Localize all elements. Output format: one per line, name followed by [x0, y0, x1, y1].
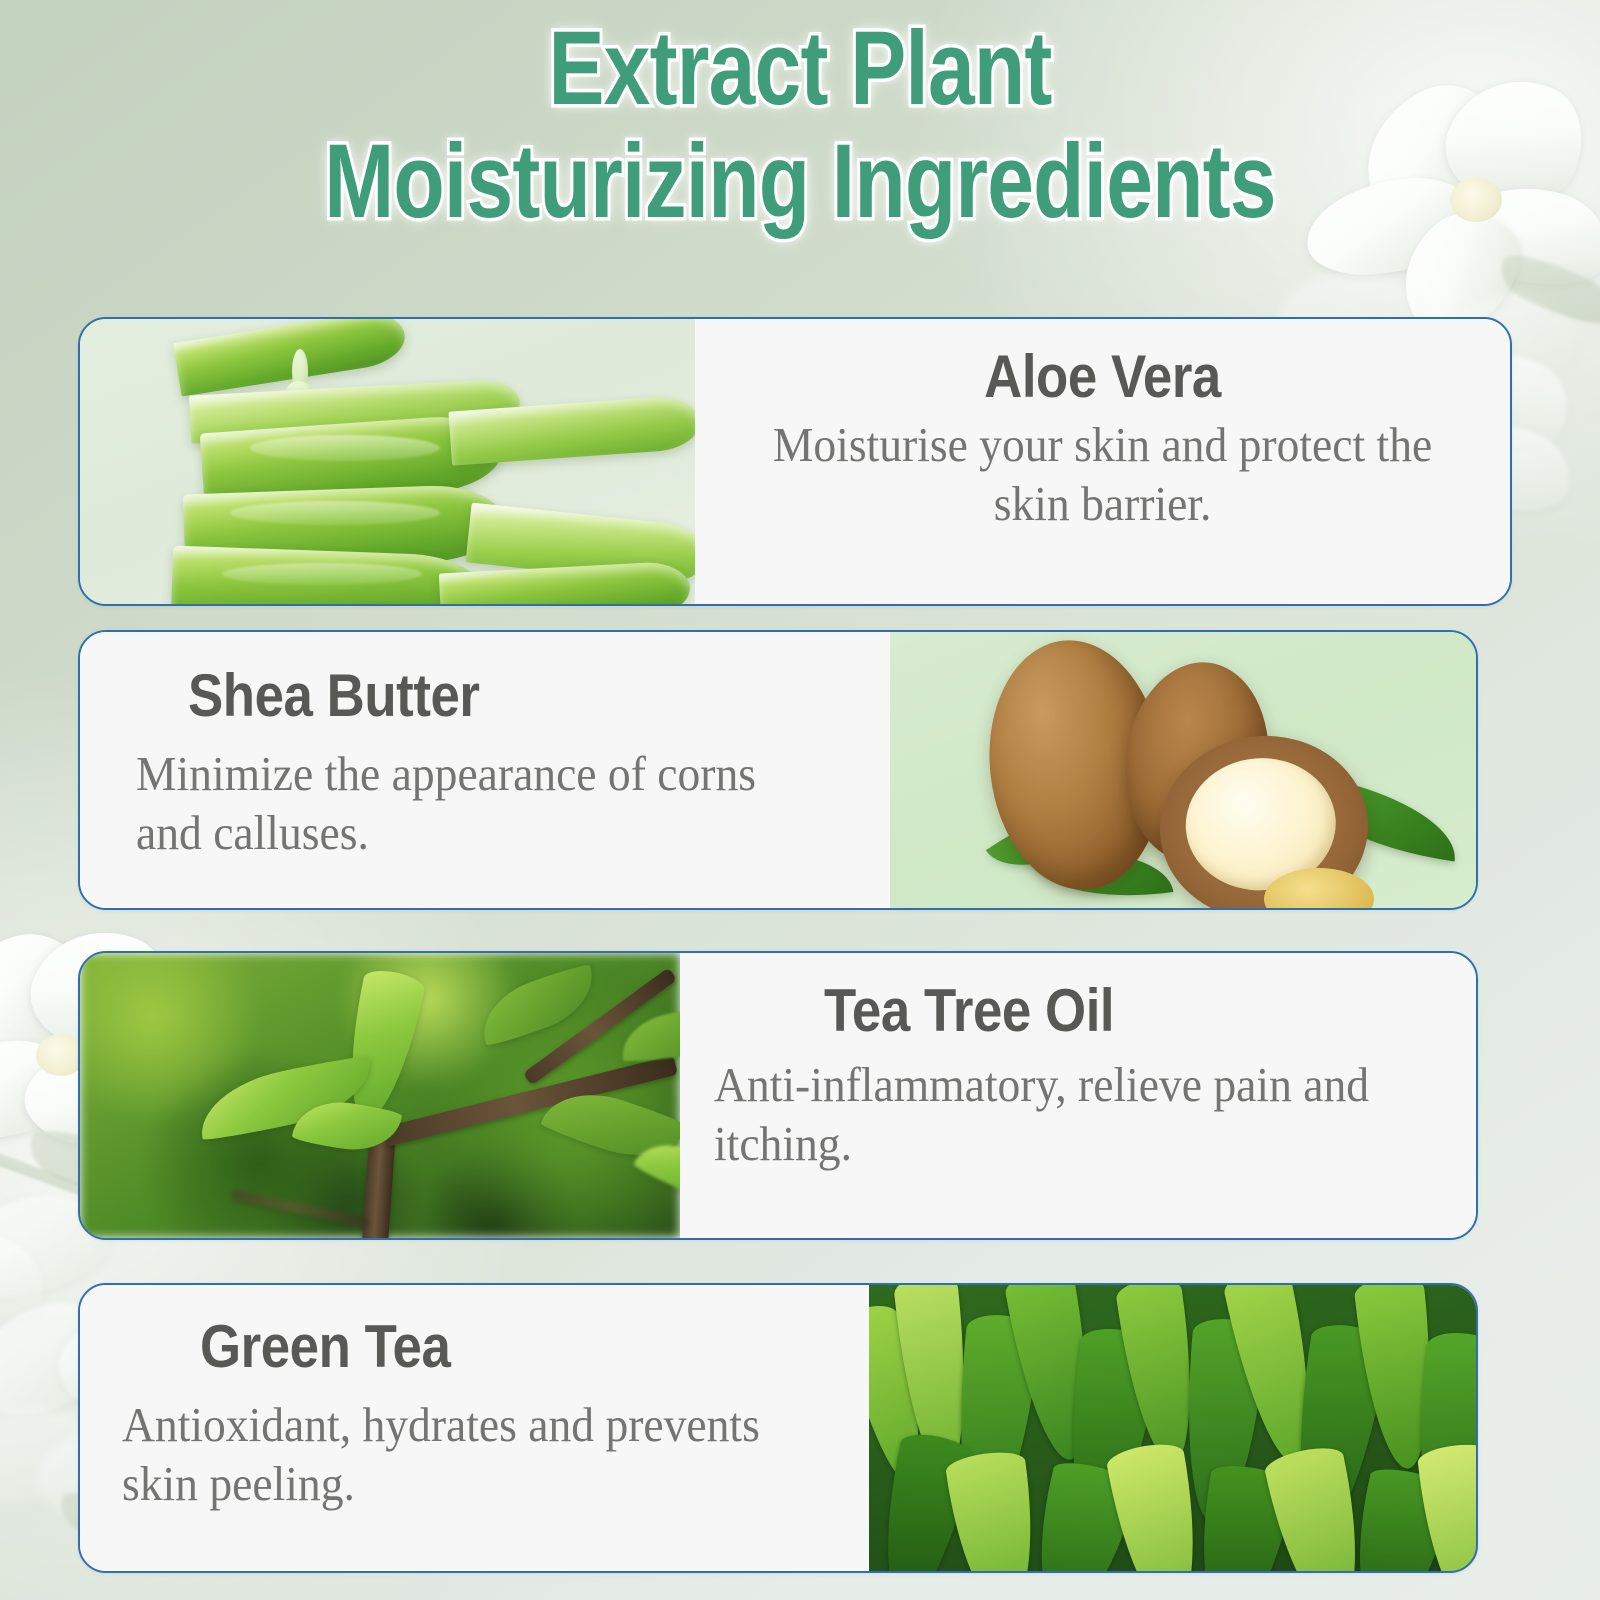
tea-tree-text: Tea Tree Oil Anti-inflammatory, relieve …	[680, 953, 1476, 1238]
flower-petal	[0, 1211, 56, 1341]
poster-canvas: Extract Plant Moisturizing Ingredients	[0, 0, 1600, 1600]
title-line-1: Extract Plant	[160, 14, 1440, 123]
aloe-gel-highlight	[222, 563, 422, 585]
flower-petal	[0, 1036, 85, 1143]
tea-tree-image	[80, 953, 680, 1238]
card-heading: Tea Tree Oil	[824, 979, 1114, 1042]
ingredient-card-aloe-vera[interactable]: Aloe Vera Moisturise your skin and prote…	[78, 317, 1512, 606]
card-description: Minimize the appearance of corns and cal…	[136, 745, 809, 863]
card-heading: Green Tea	[200, 1315, 450, 1378]
title-line-2: Moisturizing Ingredients	[160, 127, 1440, 236]
green-tea-image	[869, 1285, 1476, 1571]
card-heading: Shea Butter	[188, 664, 480, 727]
ingredient-card-tea-tree-oil[interactable]: Tea Tree Oil Anti-inflammatory, relieve …	[78, 951, 1478, 1240]
card-description: Anti-inflammatory, relieve pain and itch…	[714, 1056, 1395, 1174]
card-heading: Aloe Vera	[984, 345, 1221, 408]
card-description: Moisturise your skin and protect the ski…	[751, 416, 1453, 534]
card-description: Antioxidant, hydrates and prevents skin …	[122, 1396, 789, 1514]
aloe-vera-image	[80, 319, 695, 604]
ingredient-card-shea-butter[interactable]: Shea Butter Minimize the appearance of c…	[78, 630, 1478, 910]
aloe-gel-highlight	[250, 435, 440, 461]
aloe-vera-text: Aloe Vera Moisturise your skin and prote…	[695, 319, 1510, 604]
green-tea-text: Green Tea Antioxidant, hydrates and prev…	[80, 1285, 869, 1571]
ingredient-card-green-tea[interactable]: Green Tea Antioxidant, hydrates and prev…	[78, 1283, 1478, 1573]
aloe-gel-highlight	[230, 501, 440, 525]
shea-butter-text: Shea Butter Minimize the appearance of c…	[80, 632, 890, 908]
poster-title: Extract Plant Moisturizing Ingredients	[0, 14, 1600, 236]
shea-butter-image	[890, 632, 1476, 908]
